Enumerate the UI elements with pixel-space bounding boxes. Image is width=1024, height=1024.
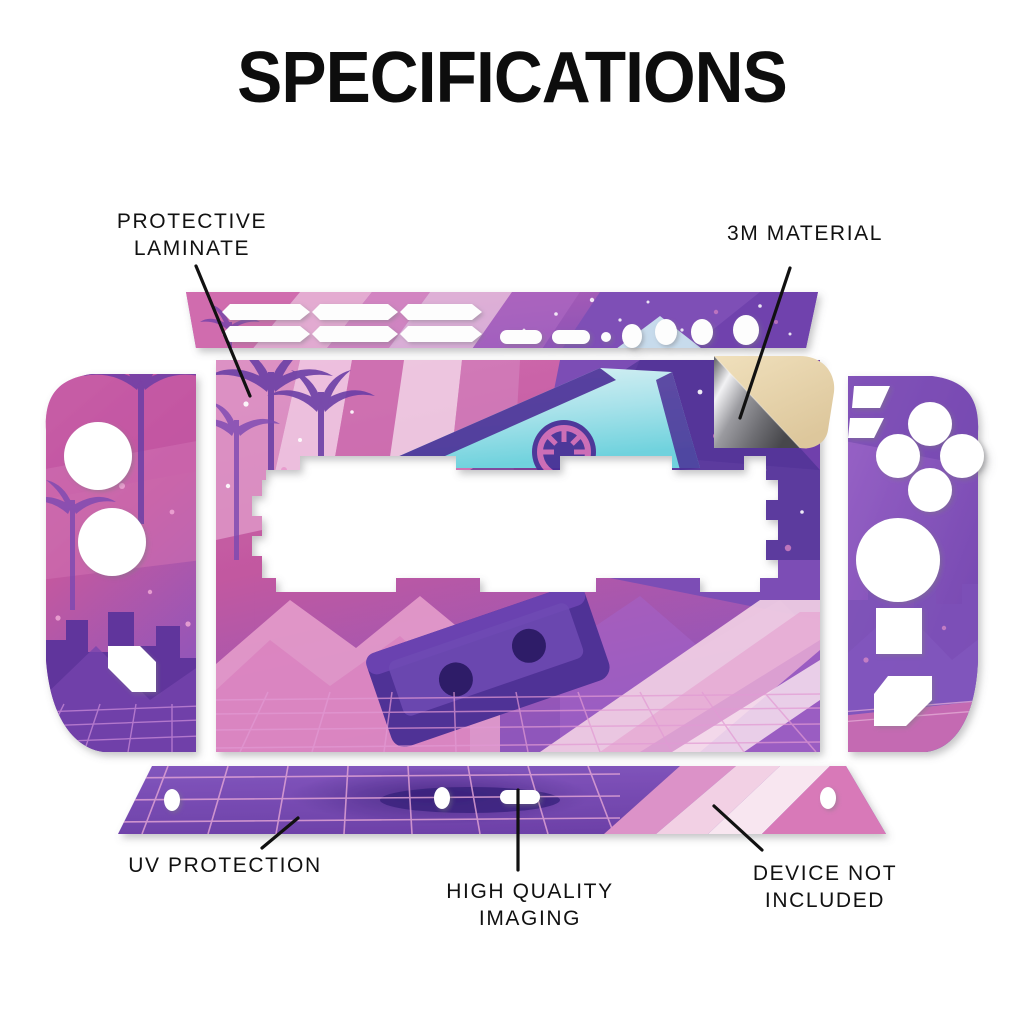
face-button-left	[876, 434, 920, 478]
callout-label-high-quality-imaging: HIGH QUALITY IMAGING	[390, 878, 670, 932]
skin-piece-top-strip	[180, 286, 826, 356]
bottom-screw-hole-right	[820, 787, 836, 809]
bottom-screw-hole-left	[164, 789, 180, 811]
skin-piece-bottom-panel	[110, 760, 900, 844]
callout-label-uv-protection: UV PROTECTION	[20, 852, 430, 879]
callout-label-3m-material: 3M MATERIAL	[640, 220, 970, 247]
face-button-bottom	[908, 468, 952, 512]
right-square-cutout	[876, 608, 922, 654]
skin-piece-right-grip	[840, 372, 990, 756]
callout-label-protective-laminate: PROTECTIVE LAMINATE	[42, 208, 342, 262]
callout-label-device-not-included: DEVICE NOT INCLUDED	[680, 860, 970, 914]
left-stick-hole	[64, 422, 132, 490]
car-wheel	[532, 420, 596, 484]
skin-piece-left-grip	[28, 348, 202, 760]
left-secondary-hole	[78, 508, 146, 576]
right-stick-hole	[856, 518, 940, 602]
specifications-infographic: SPECIFICATIONS	[0, 0, 1024, 1024]
face-button-right	[940, 434, 984, 478]
bottom-pill-slot	[500, 790, 540, 804]
peel-corner-3m-material	[714, 356, 834, 448]
face-button-top	[908, 402, 952, 446]
bottom-screw-hole-mid	[434, 787, 450, 809]
